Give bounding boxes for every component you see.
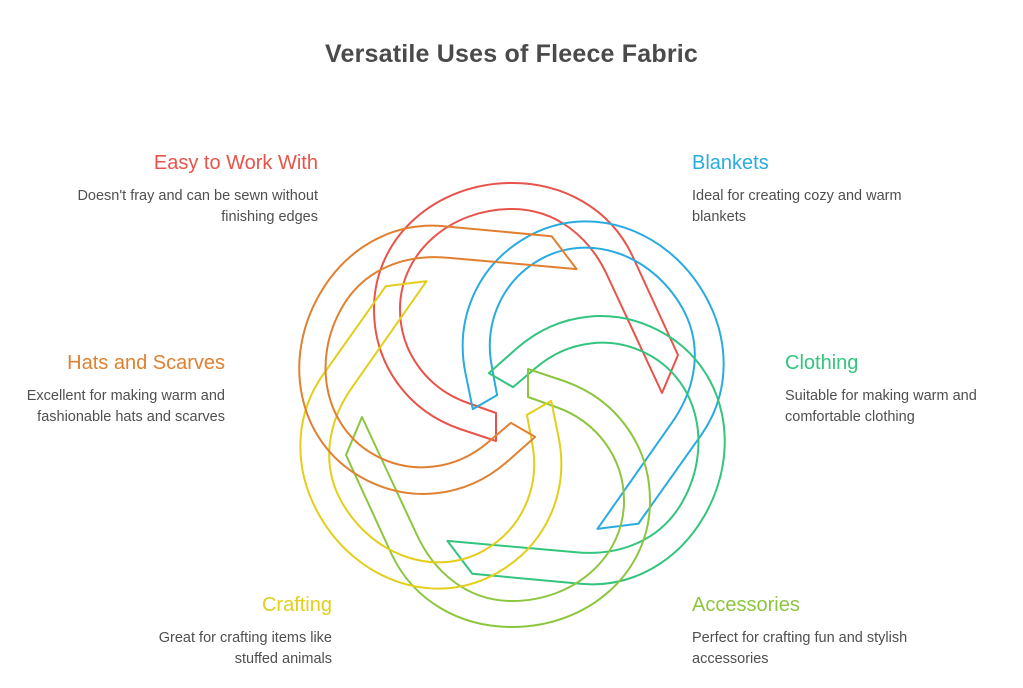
item-description: Great for crafting items like stuffed an…	[125, 628, 332, 670]
knot-arm-5	[237, 243, 612, 635]
knot-arm-1	[374, 183, 678, 441]
item-easy-to-work-with[interactable]: Easy to Work With Doesn't fray and can b…	[47, 150, 318, 228]
item-heading: Blankets	[692, 150, 942, 176]
item-description: Ideal for creating cozy and warm blanket…	[692, 186, 942, 228]
knot-arm-outline	[412, 174, 787, 566]
knot-arm-outline	[237, 243, 612, 635]
item-heading: Accessories	[692, 592, 942, 618]
knot-arm-layer	[237, 155, 788, 655]
item-clothing[interactable]: Clothing Suitable for making warm and co…	[785, 350, 1023, 428]
item-hats-and-scarves[interactable]: Hats and Scarves Excellent for making wa…	[17, 350, 225, 428]
item-description: Perfect for crafting fun and stylish acc…	[692, 628, 942, 670]
item-accessories[interactable]: Accessories Perfect for crafting fun and…	[692, 592, 942, 670]
item-description: Suitable for making warm and comfortable…	[785, 386, 1023, 428]
item-crafting[interactable]: Crafting Great for crafting items like s…	[125, 592, 332, 670]
item-blankets[interactable]: Blankets Ideal for creating cozy and war…	[692, 150, 942, 228]
item-description: Doesn't fray and can be sewn without fin…	[47, 186, 318, 228]
knot-arm-outline	[346, 369, 650, 627]
item-heading: Easy to Work With	[47, 150, 318, 176]
knot-arm-4	[346, 369, 650, 627]
item-heading: Hats and Scarves	[17, 350, 225, 376]
knot-final-svg	[233, 155, 791, 655]
item-description: Excellent for making warm and fashionabl…	[17, 386, 225, 428]
item-heading: Crafting	[125, 592, 332, 618]
page-title: Versatile Uses of Fleece Fabric	[0, 40, 1023, 69]
knot-arm-outline	[374, 183, 678, 441]
knot-arm-2	[412, 174, 787, 566]
item-heading: Clothing	[785, 350, 1023, 376]
knot-final	[233, 155, 791, 655]
